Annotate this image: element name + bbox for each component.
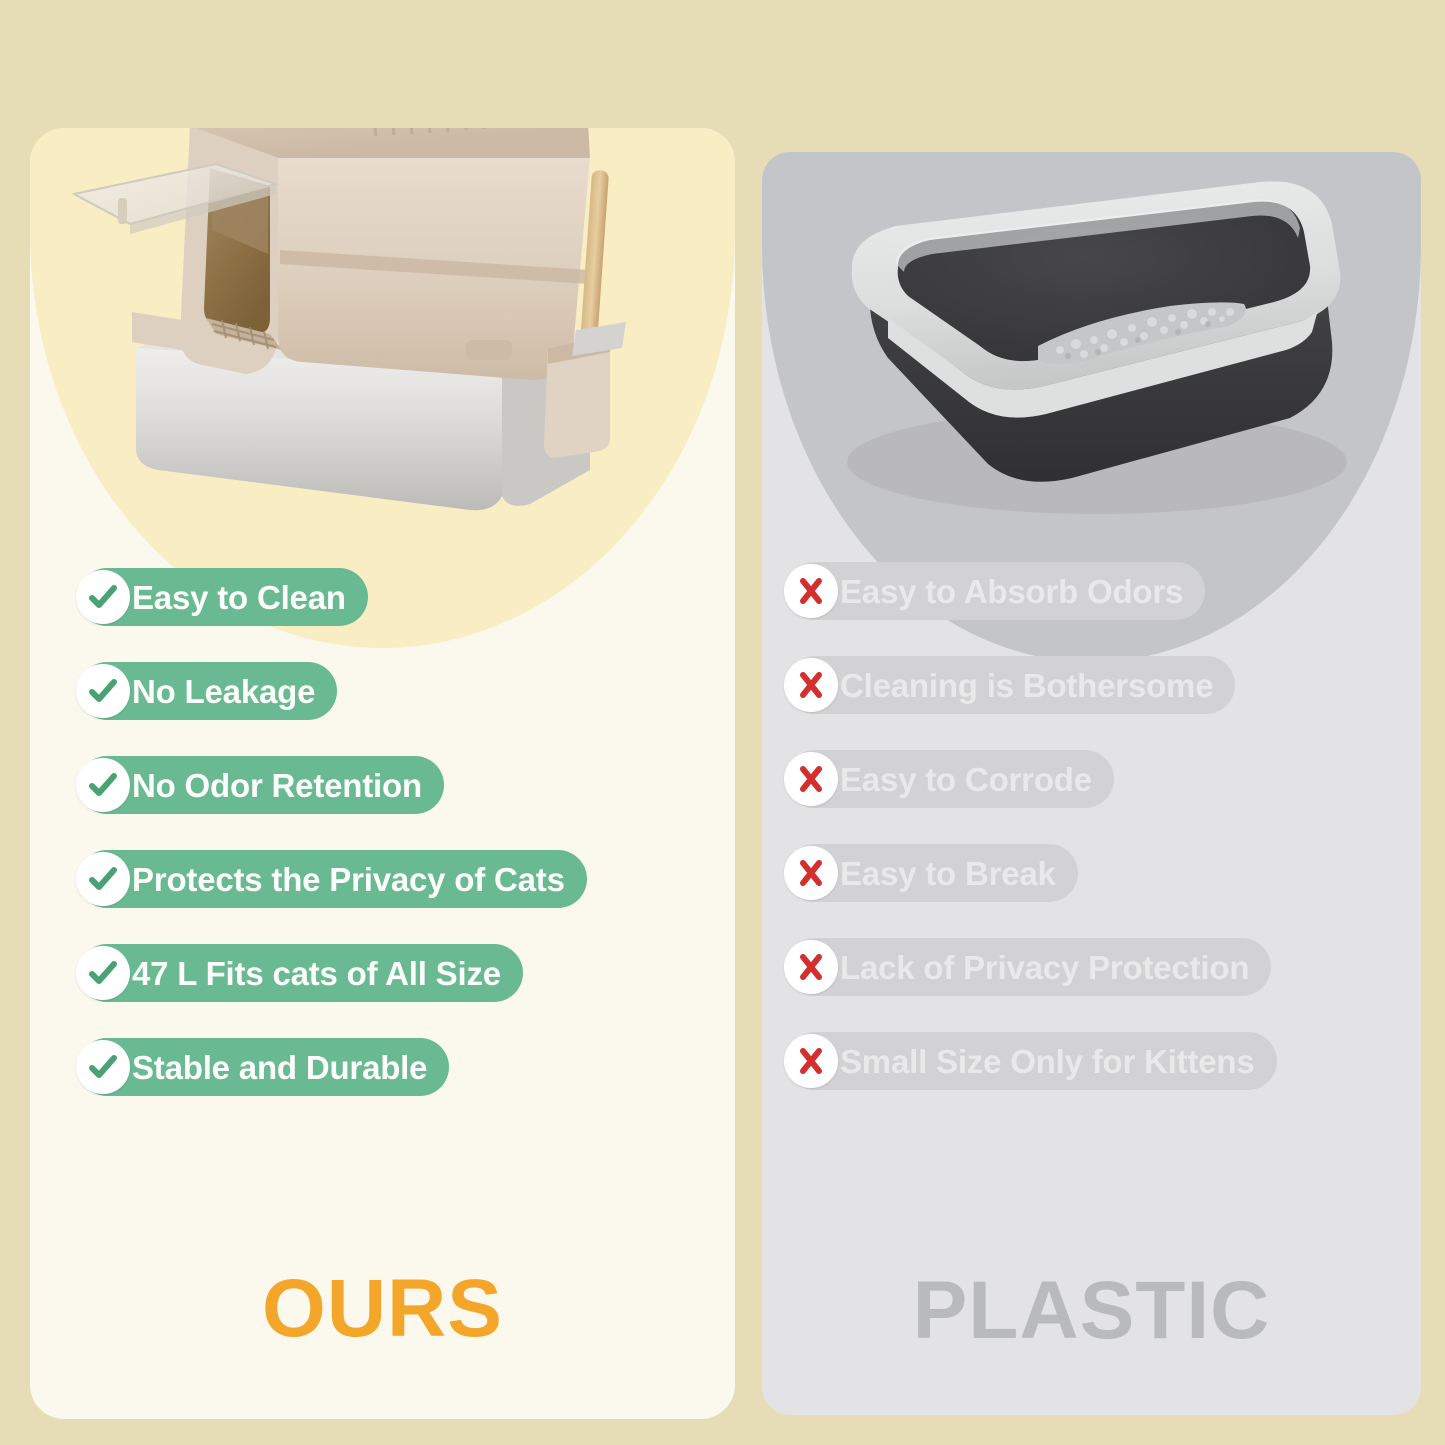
ours-feature-item[interactable]: Easy to Clean <box>78 568 368 626</box>
plastic-feature-item[interactable]: Small Size Only for Kittens <box>786 1032 1277 1090</box>
check-icon <box>76 758 130 812</box>
ours-brand-label: OURS <box>30 1268 735 1350</box>
ours-feature-label: No Odor Retention <box>132 769 422 802</box>
plastic-feature-label: Lack of Privacy Protection <box>840 951 1249 984</box>
ours-feature-item[interactable]: No Leakage <box>78 662 337 720</box>
x-icon <box>784 752 838 806</box>
plastic-feature-item[interactable]: Easy to Corrode <box>786 750 1114 808</box>
plastic-feature-item[interactable]: Easy to Break <box>786 844 1078 902</box>
ours-feature-item[interactable]: Stable and Durable <box>78 1038 449 1096</box>
ours-feature-item[interactable]: No Odor Retention <box>78 756 444 814</box>
x-icon <box>784 846 838 900</box>
plastic-feature-label: Easy to Corrode <box>840 763 1092 796</box>
check-icon <box>76 570 130 624</box>
plastic-feature-label: Cleaning is Bothersome <box>840 669 1213 702</box>
ours-feature-label: Stable and Durable <box>132 1051 427 1084</box>
plastic-feature-list: Easy to Absorb Odors Cleaning is Bothers… <box>762 562 1421 1090</box>
plastic-brand-label: PLASTIC <box>762 1270 1421 1352</box>
x-icon <box>784 564 838 618</box>
x-icon <box>784 940 838 994</box>
ours-feature-list: Easy to Clean No Leakage No Odor Retenti… <box>30 568 735 1096</box>
ours-feature-label: No Leakage <box>132 675 315 708</box>
x-icon <box>784 658 838 712</box>
check-icon <box>76 664 130 718</box>
ours-feature-label: 47 L Fits cats of All Size <box>132 957 501 990</box>
plastic-feature-item[interactable]: Lack of Privacy Protection <box>786 938 1271 996</box>
check-icon <box>76 1040 130 1094</box>
plastic-feature-label: Easy to Absorb Odors <box>840 575 1183 608</box>
ours-feature-label: Protects the Privacy of Cats <box>132 863 565 896</box>
plastic-feature-item[interactable]: Easy to Absorb Odors <box>786 562 1205 620</box>
ours-panel: Easy to Clean No Leakage No Odor Retenti… <box>30 128 735 1419</box>
ours-feature-label: Easy to Clean <box>132 581 346 614</box>
plastic-panel: Easy to Absorb Odors Cleaning is Bothers… <box>762 152 1421 1415</box>
check-icon <box>76 946 130 1000</box>
plastic-feature-label: Small Size Only for Kittens <box>840 1045 1255 1078</box>
x-icon <box>784 1034 838 1088</box>
plastic-feature-item[interactable]: Cleaning is Bothersome <box>786 656 1235 714</box>
ours-feature-item[interactable]: Protects the Privacy of Cats <box>78 850 587 908</box>
ours-feature-item[interactable]: 47 L Fits cats of All Size <box>78 944 523 1002</box>
plastic-feature-label: Easy to Break <box>840 857 1056 890</box>
comparison-infographic: Easy to Clean No Leakage No Odor Retenti… <box>0 0 1445 1445</box>
check-icon <box>76 852 130 906</box>
